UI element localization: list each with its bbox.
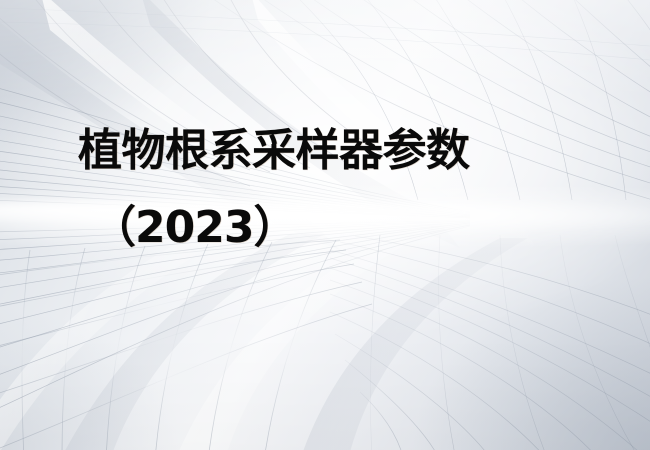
title-slide: 植物根系采样器参数 （2023） — [0, 0, 650, 450]
slide-title-block: 植物根系采样器参数 （2023） — [0, 0, 650, 450]
slide-title-line-2: （2023） — [92, 203, 296, 253]
slide-title-line-1: 植物根系采样器参数 — [78, 126, 470, 176]
